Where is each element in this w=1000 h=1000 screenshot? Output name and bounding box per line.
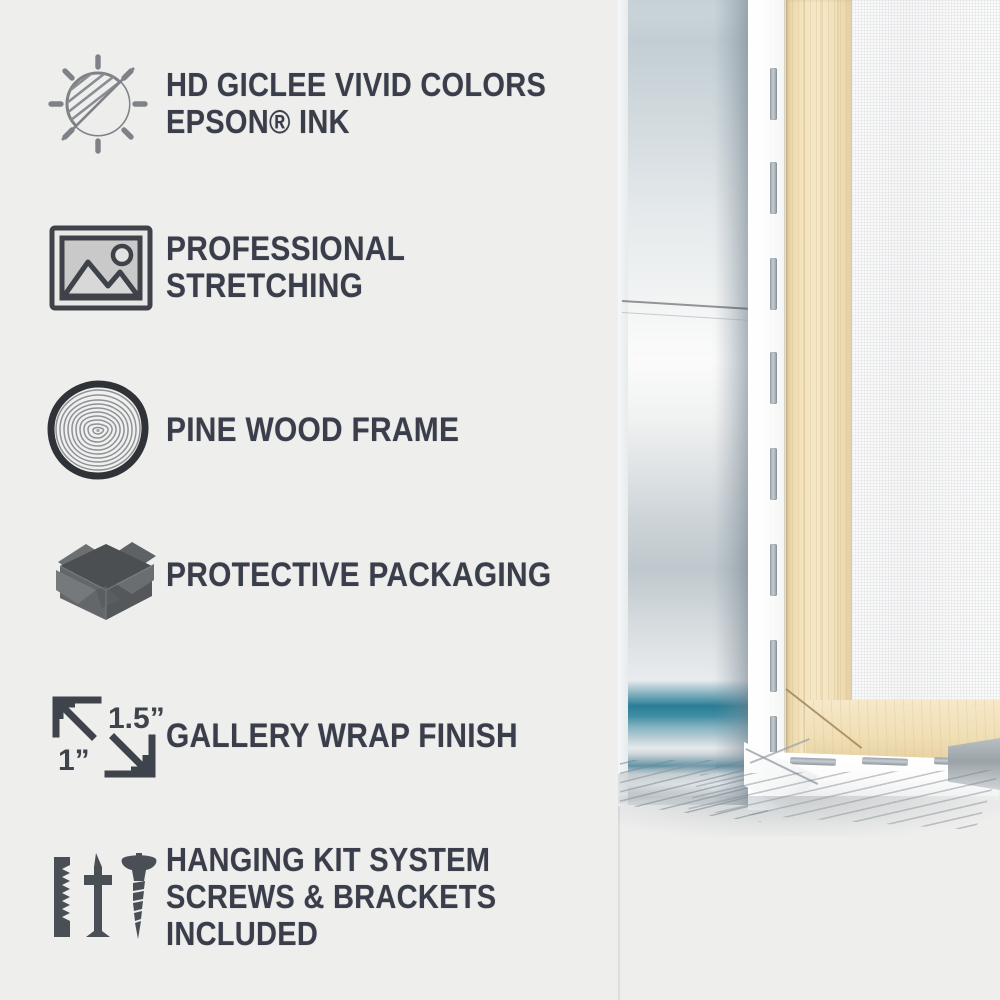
tree-rings-icon: [48, 382, 166, 478]
feature-item-pine-wood-frame: PINE WOOD FRAME: [48, 382, 499, 478]
depth-label-top: 1.5”: [108, 702, 165, 735]
canvas-base-shadow: [618, 796, 1000, 836]
staple: [770, 258, 777, 310]
feature-item-gallery-wrap-finish: 1.5” 1” GALLERY WRAP FINISH: [48, 688, 566, 784]
feature-list: HD GICLEE VIVID COLORS EPSON® INK PROFES…: [0, 0, 640, 1000]
feature-label-pine-wood-frame: PINE WOOD FRAME: [166, 412, 459, 449]
gallery-wrapped-edge: [748, 0, 786, 810]
canvas-edge-closeup-photo: [618, 0, 1000, 1000]
staple: [770, 162, 777, 214]
staple: [770, 544, 777, 596]
staple: [770, 716, 777, 754]
feature-label-hd-giclee: HD GICLEE VIVID COLORS EPSON® INK: [166, 67, 546, 141]
sun-icon: [48, 54, 166, 154]
canvas-back-texture: [852, 0, 1000, 745]
feature-label-gallery-wrap-finish: GALLERY WRAP FINISH: [166, 718, 518, 755]
feature-item-hanging-kit: HANGING KIT SYSTEM SCREWS & BRACKETS INC…: [48, 842, 640, 953]
staple: [770, 640, 777, 692]
framed-picture-icon: [48, 224, 166, 312]
depth-measure-icon: 1.5” 1”: [48, 688, 166, 784]
staple: [770, 68, 777, 120]
feature-item-protective-packaging: PROTECTIVE PACKAGING: [48, 528, 604, 622]
open-box-icon: [48, 528, 166, 622]
feature-item-hd-giclee: HD GICLEE VIVID COLORS EPSON® INK: [48, 54, 598, 154]
feature-label-professional-stretching: PROFESSIONAL STRETCHING: [166, 231, 583, 304]
product-feature-infographic: HD GICLEE VIVID COLORS EPSON® INK PROFES…: [0, 0, 1000, 1000]
hanging-hardware-icon: [48, 851, 166, 943]
feature-label-protective-packaging: PROTECTIVE PACKAGING: [166, 557, 551, 594]
feature-label-hanging-kit: HANGING KIT SYSTEM SCREWS & BRACKETS INC…: [166, 842, 583, 953]
depth-label-bottom: 1”: [58, 744, 90, 777]
feature-item-professional-stretching: PROFESSIONAL STRETCHING: [48, 224, 640, 312]
staple: [770, 352, 777, 404]
staple: [770, 448, 777, 500]
pine-stretcher-bar-vertical: [786, 0, 852, 762]
